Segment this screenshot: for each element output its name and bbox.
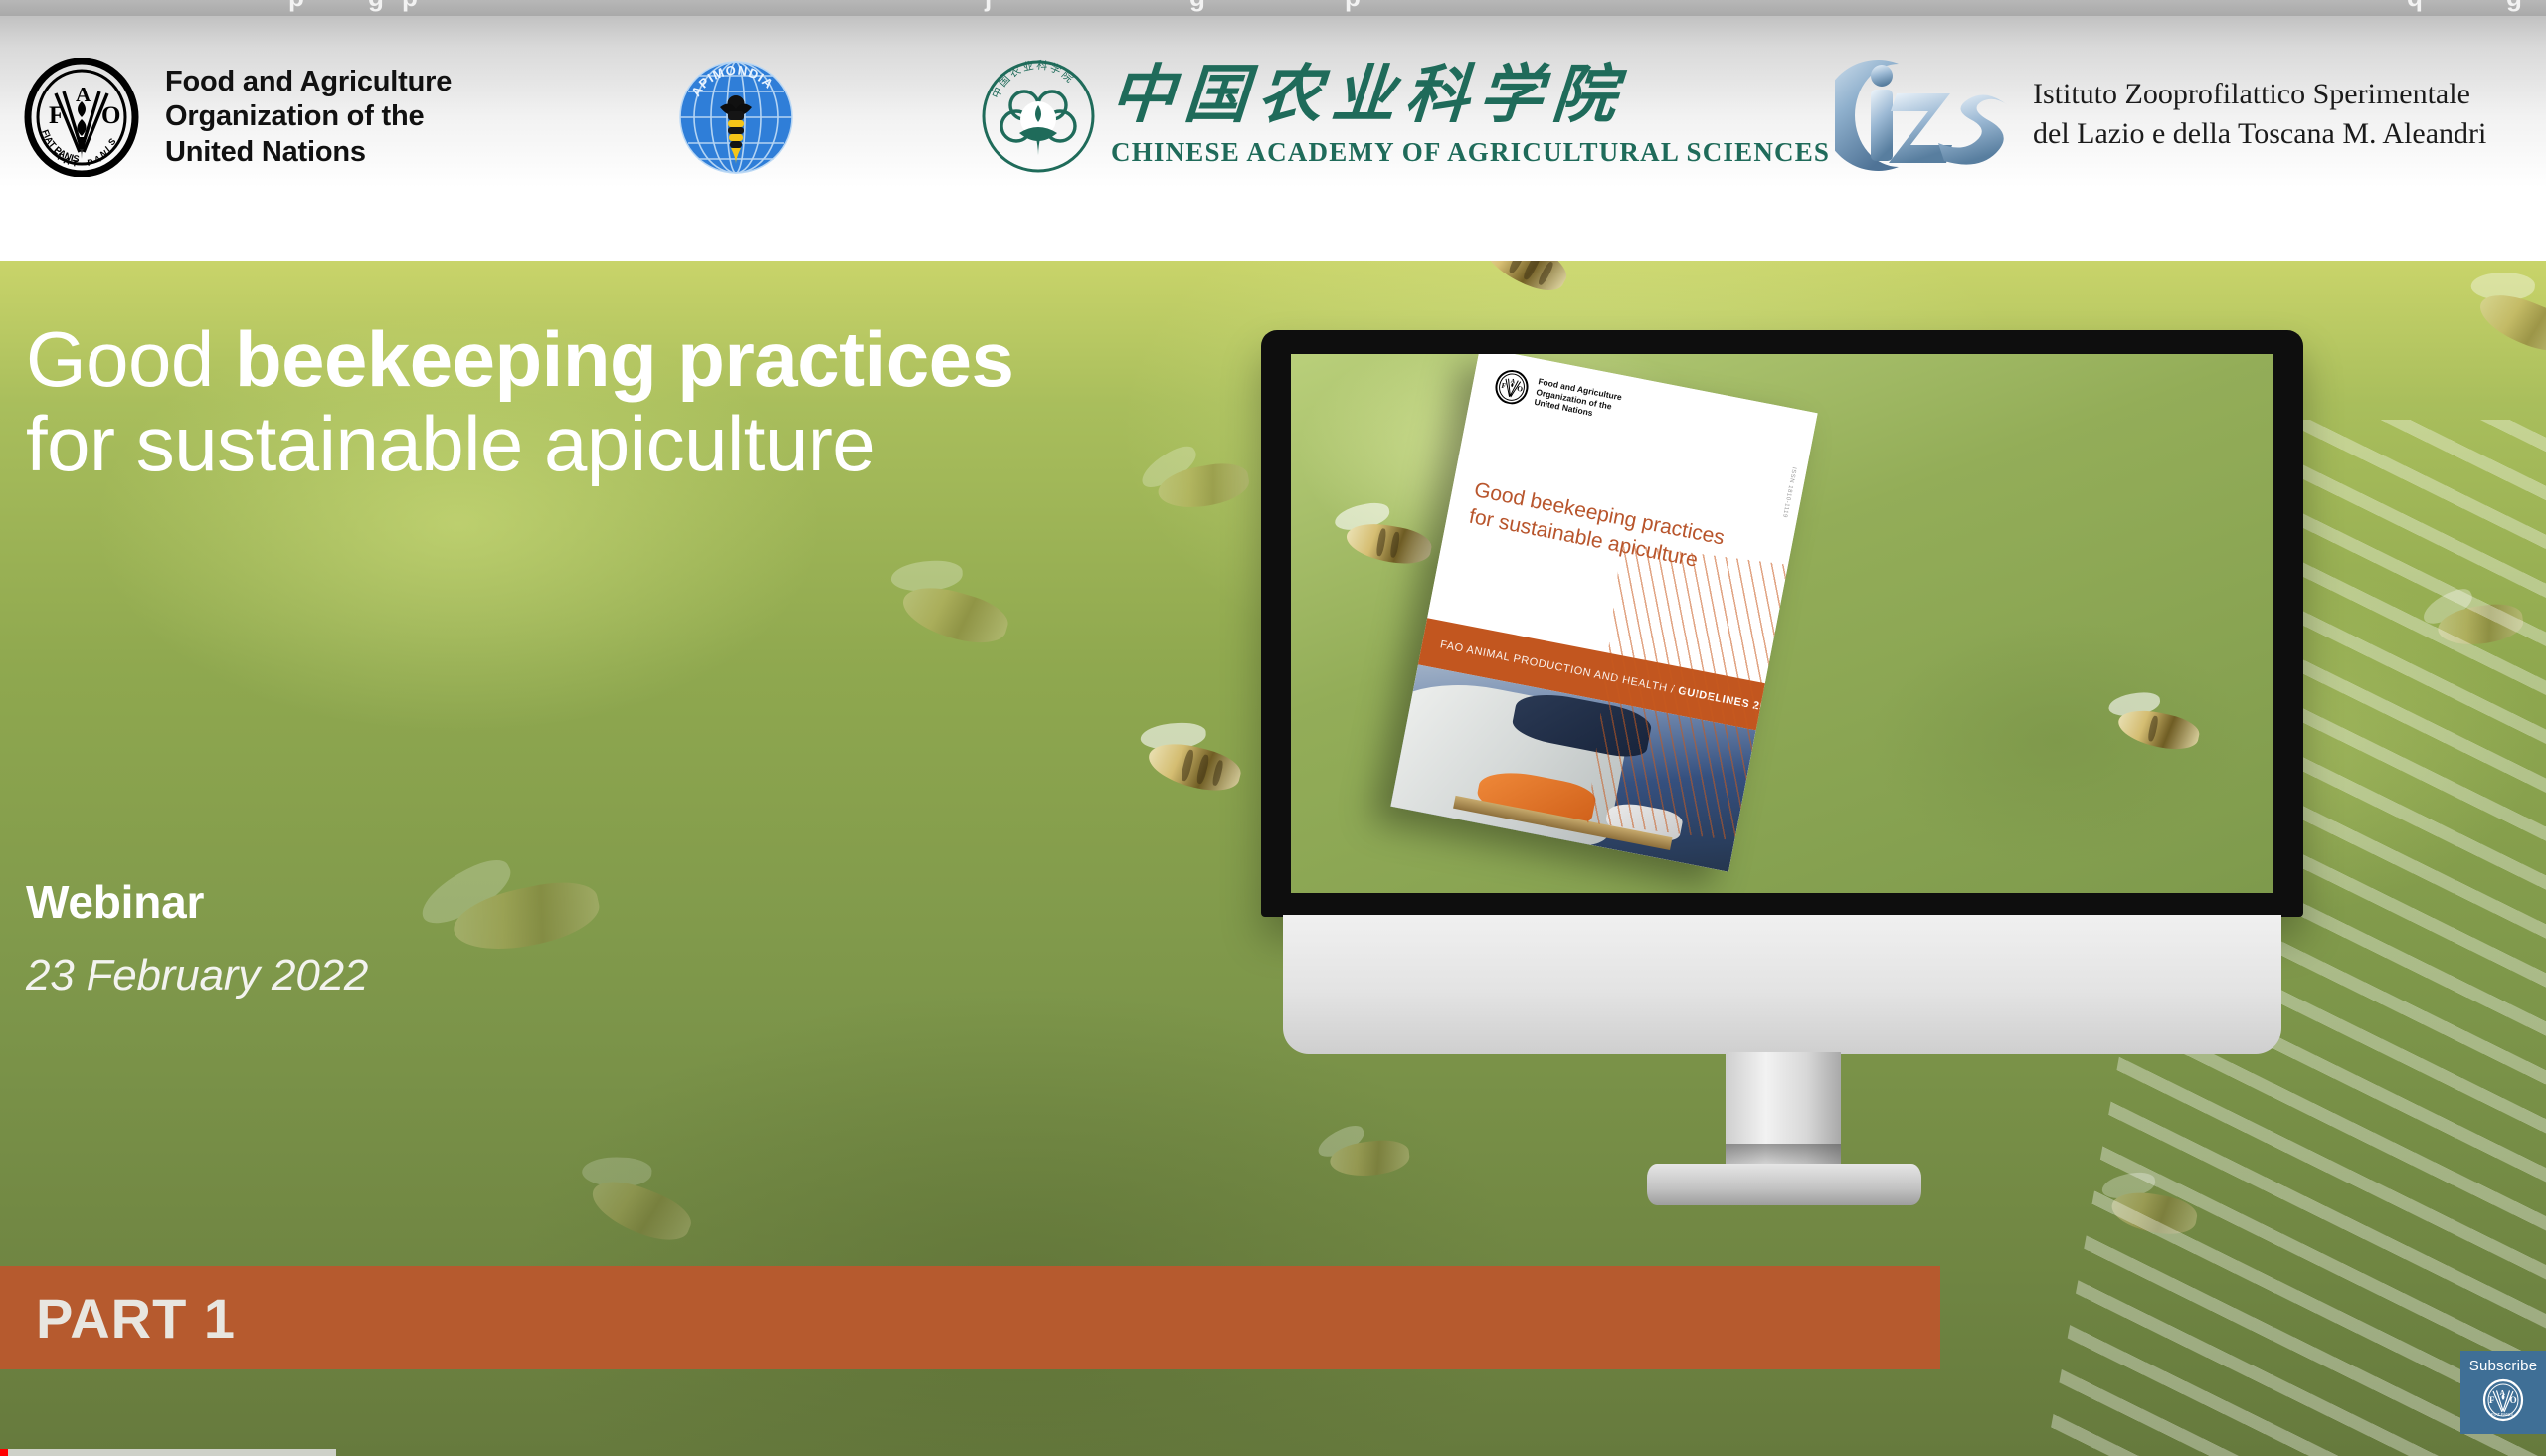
- svg-text:P: P: [87, 157, 93, 168]
- svg-text:A: A: [76, 83, 91, 106]
- svg-text:FIAT PANIS: FIAT PANIS: [2491, 1412, 2513, 1417]
- svg-text:F: F: [2489, 1395, 2495, 1405]
- logo-row: F A O FIAT PANIS F I A T P A N: [0, 30, 2546, 219]
- apimondia-logo: APIMONDIA: [676, 58, 796, 177]
- sliver-glyph: g: [368, 0, 385, 13]
- sliver-glyph: g: [2506, 0, 2523, 13]
- title-lead: Good: [26, 315, 235, 403]
- svg-text:O: O: [2510, 1395, 2517, 1405]
- monitor-chin: [1283, 915, 2281, 1054]
- svg-text:A: A: [1510, 378, 1516, 386]
- subscribe-watermark[interactable]: Subscribe F A O FIAT PANIS: [2460, 1351, 2546, 1434]
- caas-seal-icon: 中国农业科学院: [980, 58, 1097, 175]
- cover-fao-emblem-icon: F A O: [1492, 367, 1532, 407]
- sliver-glyph: j: [985, 0, 993, 13]
- svg-text:A: A: [2500, 1388, 2506, 1397]
- player-progress-bar[interactable]: [0, 1449, 2546, 1456]
- title-line-1: Good beekeeping practices: [26, 318, 1199, 401]
- event-type: Webinar: [26, 875, 368, 929]
- izs-text-line-1: Istituto Zooprofilattico Sperimentale: [2033, 75, 2486, 114]
- fao-logo-text: Food and Agriculture Organization of the…: [165, 65, 452, 170]
- fao-text-line-3: United Nations: [165, 135, 452, 170]
- caas-english-name: CHINESE ACADEMY OF AGRICULTURAL SCIENCES: [1111, 137, 1830, 168]
- fao-text-line-1: Food and Agriculture: [165, 65, 452, 99]
- clipped-text-sliver: p g p j g p q g: [0, 0, 2546, 16]
- part-banner: PART 1: [0, 1266, 1940, 1369]
- slide-title: Good beekeeping practices for sustainabl…: [26, 318, 1199, 488]
- caas-chinese-name: 中国农业科学院: [1109, 64, 1833, 127]
- progress-played: [0, 1449, 8, 1456]
- part-label: PART 1: [36, 1286, 236, 1351]
- monitor-screen: F A O Food and Agriculture Organization …: [1291, 354, 2273, 893]
- imac-monitor: F A O Food and Agriculture Organization …: [1261, 261, 2303, 1265]
- subscribe-fao-icon: F A O FIAT PANIS: [2481, 1378, 2525, 1422]
- logo-header: F A O FIAT PANIS F I A T P A N: [0, 0, 2546, 261]
- title-line-2: for sustainable apiculture: [26, 401, 1199, 487]
- fao-emblem-icon: F A O FIAT PANIS F I A T P A N: [22, 58, 141, 177]
- izs-emblem-icon: [1835, 50, 2009, 179]
- sliver-glyph: p: [1345, 0, 1362, 13]
- svg-text:F: F: [49, 102, 64, 129]
- subscribe-label: Subscribe: [2460, 1351, 2546, 1374]
- svg-text:T: T: [72, 158, 79, 169]
- svg-text:F: F: [1501, 381, 1508, 391]
- sliver-glyph: g: [1189, 0, 1206, 13]
- slide-meta: Webinar 23 February 2022: [26, 875, 368, 1001]
- progress-buffered: [8, 1449, 336, 1456]
- monitor-stand-base: [1647, 1164, 1921, 1205]
- title-strong: beekeeping practices: [235, 315, 1013, 403]
- event-date: 23 February 2022: [26, 951, 368, 1001]
- izs-logo: Istituto Zooprofilattico Sperimentale de…: [1835, 50, 2486, 179]
- presentation-slide: F A O Food and Agriculture Organization …: [0, 261, 2546, 1456]
- svg-text:O: O: [101, 102, 120, 129]
- caas-logo: 中国农业科学院 中国: [980, 58, 1830, 175]
- izs-text: Istituto Zooprofilattico Sperimentale de…: [2033, 75, 2486, 153]
- sliver-glyph: p: [288, 0, 305, 13]
- fao-logo: F A O FIAT PANIS F I A T P A N: [22, 58, 452, 177]
- caas-text: 中国农业科学院 CHINESE ACADEMY OF AGRICULTURAL …: [1111, 58, 1830, 168]
- izs-text-line-2: del Lazio e della Toscana M. Aleandri: [2033, 114, 2486, 154]
- fao-text-line-2: Organization of the: [165, 99, 452, 134]
- sliver-glyph: q: [2407, 0, 2424, 13]
- video-player-stage: p g p j g p q g F A O: [0, 0, 2546, 1456]
- sliver-glyph: p: [402, 0, 419, 13]
